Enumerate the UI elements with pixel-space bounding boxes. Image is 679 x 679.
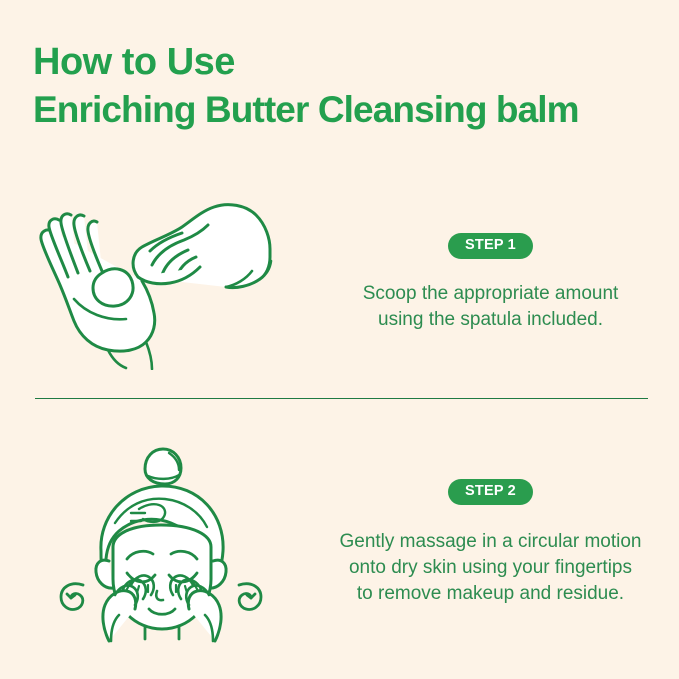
step-2-text-container: STEP 2 Gently massage in a circular moti… — [320, 479, 679, 607]
woman-face-massage-icon — [53, 443, 268, 643]
step-2-text-line-1: Gently massage in a circular motion — [339, 529, 641, 555]
step-2-text-line-3: to remove makeup and residue. — [339, 581, 641, 607]
step-1-text-line-2: using the spatula included. — [363, 307, 619, 333]
step-1-row: STEP 1 Scoop the appropriate amount usin… — [0, 190, 679, 375]
step-2-description: Gently massage in a circular motion onto… — [339, 529, 641, 607]
two-hands-with-balm-scoop-icon — [30, 195, 290, 370]
title-line-2: Enriching Butter Cleansing balm — [33, 86, 658, 134]
title-line-1: How to Use — [33, 38, 658, 86]
step-2-illustration-container — [0, 443, 320, 643]
step-2-badge: STEP 2 — [448, 479, 533, 505]
step-1-illustration-container — [0, 195, 320, 370]
step-1-text-line-1: Scoop the appropriate amount — [363, 281, 619, 307]
section-divider — [35, 398, 648, 399]
step-1-description: Scoop the appropriate amount using the s… — [363, 281, 619, 333]
step-2-text-line-2: onto dry skin using your fingertips — [339, 555, 641, 581]
step-1-badge: STEP 1 — [448, 233, 533, 259]
infographic-page: How to Use Enriching Butter Cleansing ba… — [0, 0, 679, 679]
page-title: How to Use Enriching Butter Cleansing ba… — [33, 38, 658, 134]
step-2-row: STEP 2 Gently massage in a circular moti… — [0, 440, 679, 645]
step-1-text-container: STEP 1 Scoop the appropriate amount usin… — [320, 233, 679, 333]
